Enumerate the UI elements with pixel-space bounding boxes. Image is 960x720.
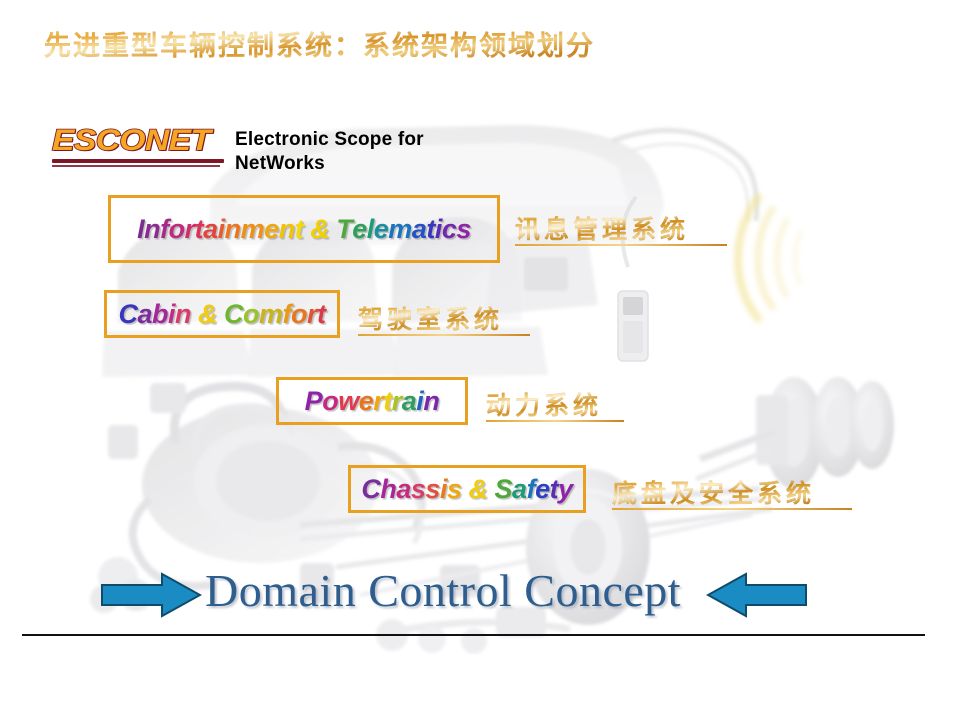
domain-label-chassis-en: Chassis & Safety bbox=[361, 476, 572, 503]
domain-label-chassis-cn: 底盘及安全系统 bbox=[612, 474, 815, 510]
domain-label-powertrain-cn: 动力系统 bbox=[486, 386, 602, 422]
esconet-caption-line2: NetWorks bbox=[235, 152, 424, 176]
slide-title: 先进重型车辆控制系统：系统架构领域划分 bbox=[44, 24, 595, 63]
domain-label-cabin-cn: 驾驶室系统 bbox=[358, 300, 503, 336]
domain-box-cabin[interactable]: Cabin & Comfort bbox=[104, 290, 340, 338]
arrow-pointing-left bbox=[706, 572, 808, 618]
arrow-pointing-right bbox=[100, 572, 202, 618]
domain-underline-infotainment bbox=[515, 244, 727, 246]
domain-underline-powertrain bbox=[486, 420, 624, 422]
signal-waves-icon bbox=[738, 195, 802, 321]
domain-label-powertrain-en: Powertrain bbox=[305, 388, 440, 415]
domain-label-cabin-en: Cabin & Comfort bbox=[118, 301, 325, 328]
domain-underline-cabin bbox=[358, 334, 530, 336]
domain-label-infotainment-cn: 讯息管理系统 bbox=[515, 210, 689, 246]
esconet-caption: Electronic Scope for NetWorks bbox=[235, 128, 424, 176]
esconet-underline-bar-thin bbox=[52, 165, 220, 167]
domain-box-powertrain[interactable]: Powertrain bbox=[276, 377, 468, 425]
domain-box-chassis[interactable]: Chassis & Safety bbox=[348, 465, 586, 513]
esconet-wordmark: ESCONET bbox=[52, 126, 245, 156]
domain-box-infotainment[interactable]: Infortainment & Telematics bbox=[108, 195, 500, 263]
concept-title: Domain Control Concept bbox=[205, 564, 681, 617]
domain-underline-chassis bbox=[612, 508, 852, 510]
esconet-caption-line1: Electronic Scope for bbox=[235, 128, 424, 152]
bottom-divider-line bbox=[22, 634, 925, 636]
domain-label-infotainment-en: Infortainment & Telematics bbox=[137, 216, 471, 243]
esconet-underline-bar bbox=[52, 159, 224, 163]
slide-canvas: 先进重型车辆控制系统：系统架构领域划分 ESCONET Electronic S… bbox=[0, 0, 960, 720]
esconet-logo: ESCONET bbox=[52, 126, 224, 167]
